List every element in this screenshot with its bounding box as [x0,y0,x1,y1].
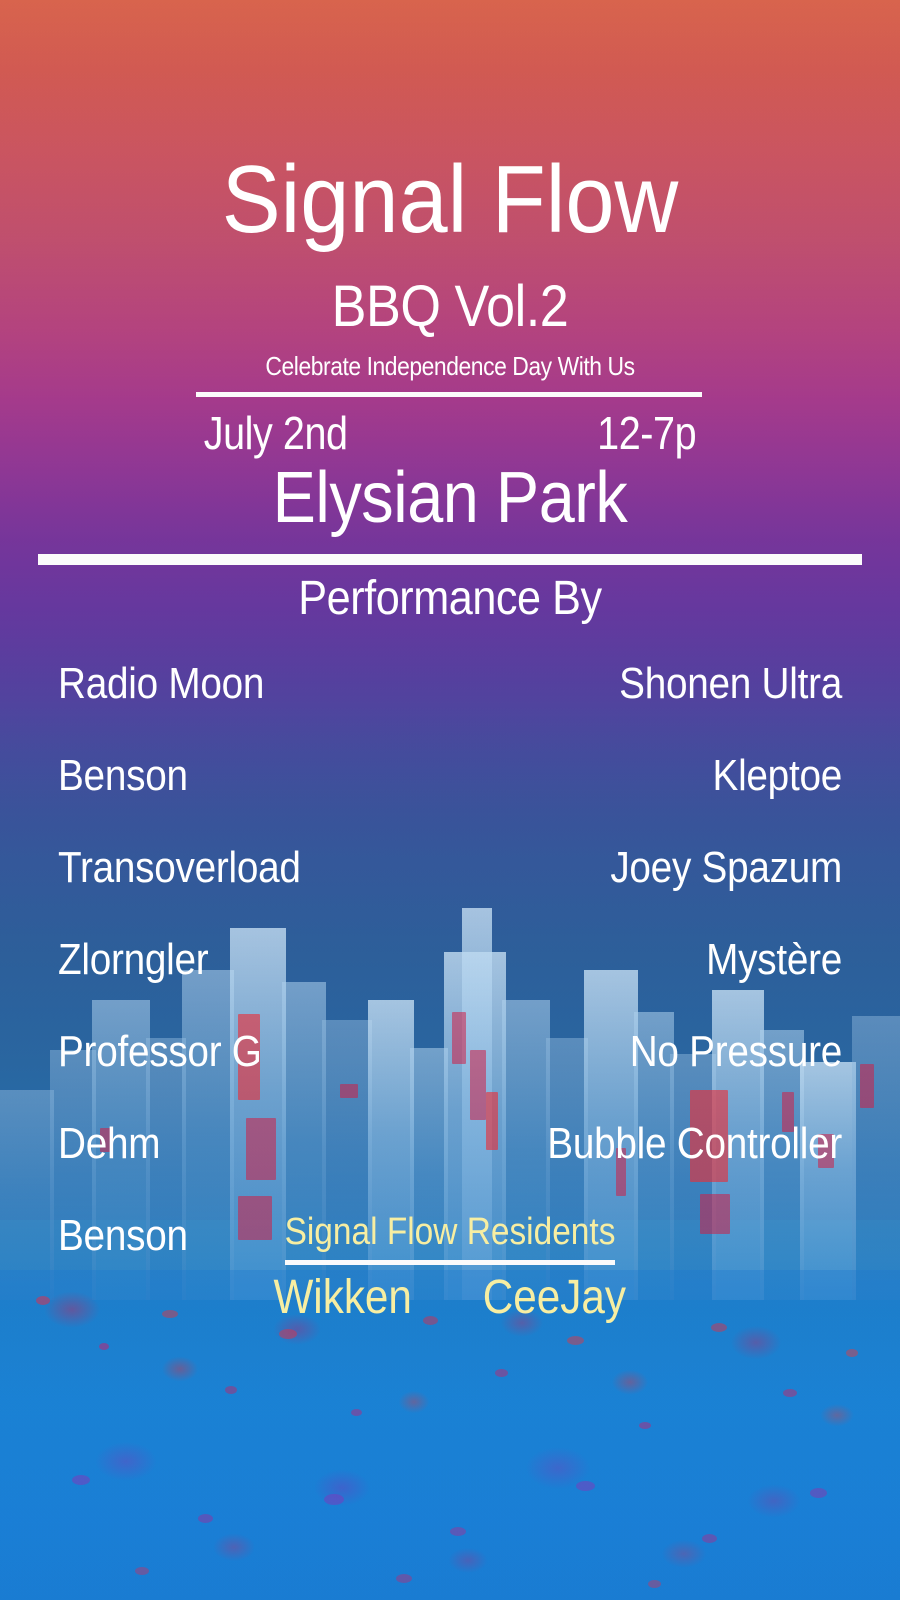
lineup-act: Mystère [472,938,842,982]
lineup-act: Benson [58,754,428,798]
lineup-section: Radio MoonBensonTransoverloadZlornglerPr… [0,662,900,1282]
event-venue: Elysian Park [45,462,855,534]
event-subtitle: BBQ Vol.2 [45,278,855,336]
event-time: 12-7p [597,410,696,456]
divider-thin [196,392,702,397]
event-tagline: Celebrate Independence Day With Us [54,353,846,379]
lineup-act: Joey Spazum [472,846,842,890]
flyer-content: Signal Flow BBQ Vol.2 Celebrate Independ… [0,0,900,1600]
residents-name-list: WikkenCeeJay [250,1274,650,1322]
lineup-act: Shonen Ultra [472,662,842,706]
lineup-column-left: Radio MoonBensonTransoverloadZlornglerPr… [58,662,478,1306]
lineup-act: Kleptoe [472,754,842,798]
lineup-act: Transoverload [58,846,428,890]
resident-name: CeeJay [483,1274,626,1322]
event-flyer: Signal Flow BBQ Vol.2 Celebrate Independ… [0,0,900,1600]
event-date: July 2nd [204,410,348,456]
lineup-act: Professor G [58,1030,428,1074]
performance-heading: Performance By [45,575,855,623]
lineup-act: Radio Moon [58,662,428,706]
event-title: Signal Flow [36,152,864,248]
lineup-act: Bubble Controller [472,1122,842,1166]
residents-divider [285,1260,615,1265]
lineup-act: No Pressure [472,1030,842,1074]
divider-thick [38,554,862,565]
lineup-act: Dehm [58,1122,428,1166]
resident-name: Wikken [273,1274,411,1322]
lineup-column-right: Shonen UltraKleptoeJoey SpazumMystèreNo … [422,662,842,1214]
residents-section: Signal Flow Residents WikkenCeeJay [250,1213,650,1322]
lineup-act: Zlorngler [58,938,428,982]
residents-heading: Signal Flow Residents [274,1213,626,1251]
